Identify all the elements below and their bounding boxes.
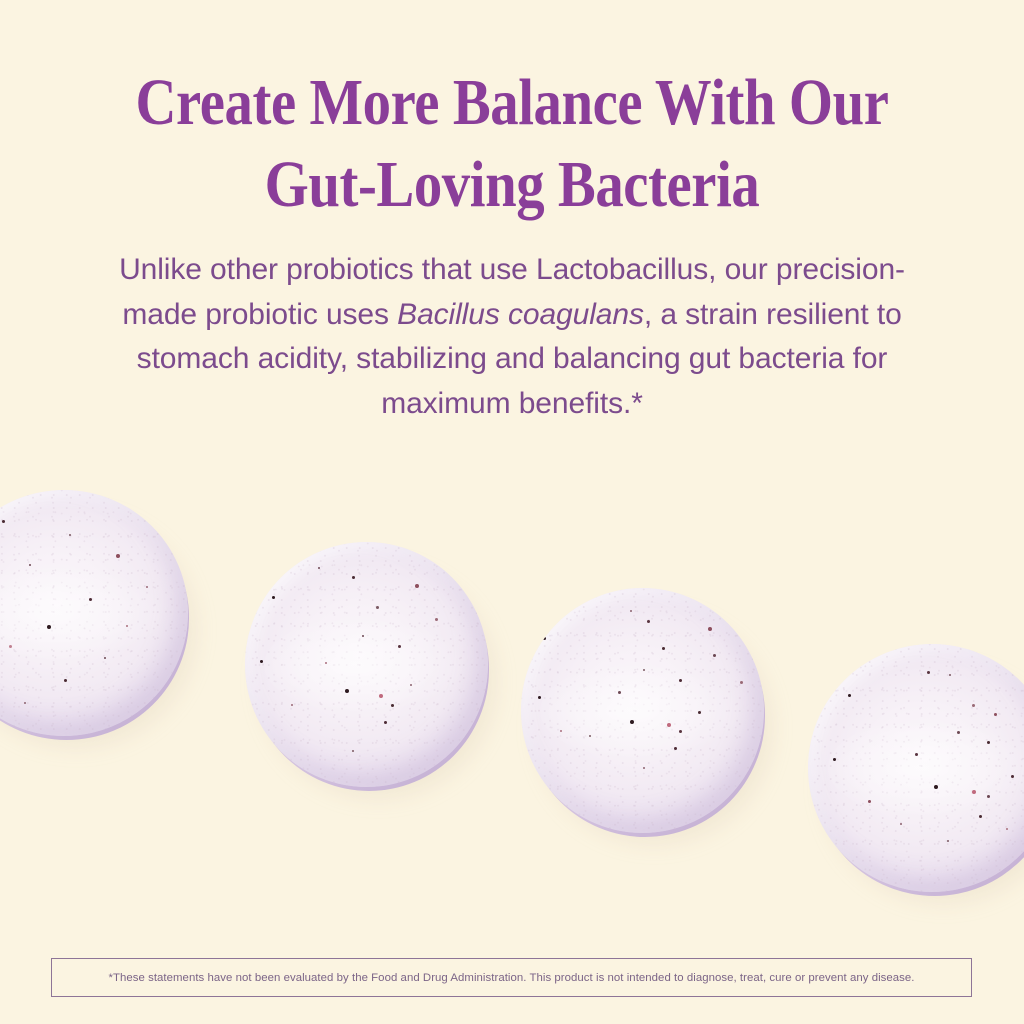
- tablet-shadow: [257, 562, 500, 802]
- tablet-sheen: [540, 662, 744, 760]
- fda-disclaimer-box: *These statements have not been evaluate…: [51, 958, 972, 997]
- tablet-grain-texture: [245, 542, 488, 787]
- tablet-face: [245, 542, 488, 787]
- tablet-sheen: [828, 718, 1024, 817]
- tablet-shadow: [0, 510, 200, 751]
- tablet-sheen: [264, 616, 468, 714]
- hero-text-block: Create More Balance With Our Gut-Loving …: [0, 0, 1024, 426]
- tablet-rim: [525, 594, 766, 837]
- marketing-hero-card: Create More Balance With Our Gut-Loving …: [0, 0, 1024, 1024]
- tablet-rim: [812, 650, 1024, 896]
- tablet-face: [0, 490, 188, 736]
- tablet-rim: [0, 496, 189, 740]
- hero-subtitle: Unlike other probiotics that use Lactoba…: [117, 226, 907, 426]
- tablet-sheen: [0, 564, 168, 662]
- tablet-shadow: [533, 608, 776, 848]
- tablet-rim: [249, 548, 490, 791]
- tablet-grain-texture: [808, 644, 1024, 892]
- headline-line-1: Create More Balance With Our: [135, 66, 888, 139]
- probiotic-tablet-3: [521, 588, 764, 833]
- fda-disclaimer-text: *These statements have not been evaluate…: [108, 971, 914, 985]
- tablet-face: [521, 588, 764, 833]
- probiotic-tablet-2: [245, 542, 488, 787]
- tablet-grain-texture: [521, 588, 764, 833]
- probiotic-tablet-4: [808, 644, 1024, 892]
- tablet-face: [808, 644, 1024, 892]
- page-title: Create More Balance With Our Gut-Loving …: [72, 0, 953, 226]
- species-name-italic: Bacillus coagulans: [397, 298, 644, 331]
- tablet-grain-texture: [0, 490, 188, 736]
- probiotic-tablet-1: [0, 490, 188, 736]
- headline-line-2: Gut-Loving Bacteria: [265, 148, 760, 221]
- tablet-shadow: [820, 664, 1024, 907]
